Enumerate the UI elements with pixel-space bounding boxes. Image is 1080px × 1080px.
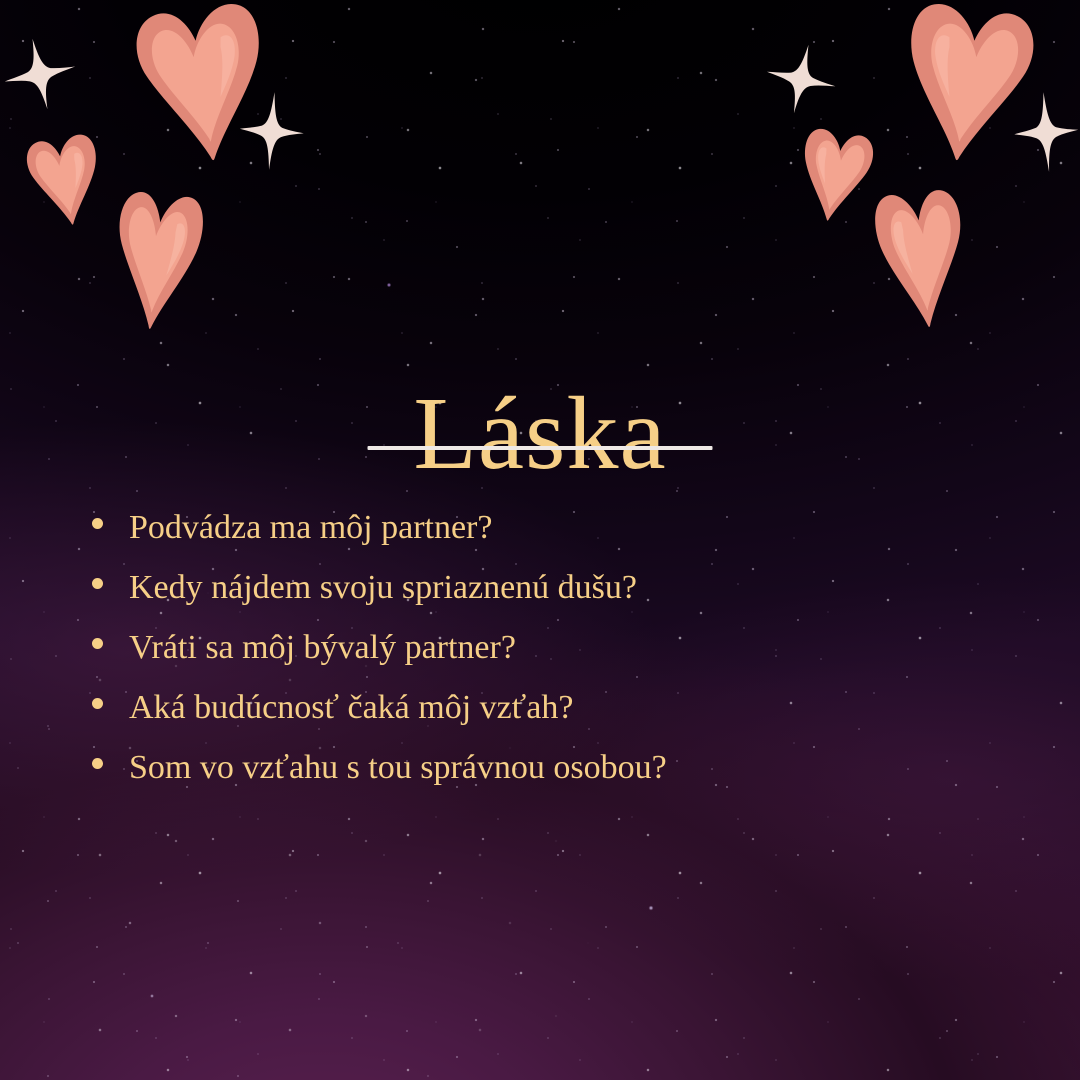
slide-content: Láska Podvádza ma môj partner? Kedy nájd… (0, 0, 1080, 1080)
list-item: Aká budúcnosť čaká môj vzťah? (92, 678, 992, 738)
list-item: Kedy nájdem svoju spriaznenú dušu? (92, 558, 992, 618)
list-item: Podvádza ma môj partner? (92, 498, 992, 558)
question-list: Podvádza ma môj partner? Kedy nájdem svo… (92, 498, 992, 798)
list-item: Vráti sa môj bývalý partner? (92, 618, 992, 678)
list-item: Som vo vzťahu s tou správnou osobou? (92, 738, 992, 798)
bullet-icon (92, 518, 103, 529)
question-text: Kedy nájdem svoju spriaznenú dušu? (129, 558, 637, 618)
tarot-love-slide: Láska Podvádza ma môj partner? Kedy nájd… (0, 0, 1080, 1080)
question-text: Podvádza ma môj partner? (129, 498, 492, 558)
title-divider (368, 446, 713, 450)
bullet-icon (92, 638, 103, 649)
question-text: Vráti sa môj bývalý partner? (129, 618, 516, 678)
question-text: Aká budúcnosť čaká môj vzťah? (129, 678, 573, 738)
bullet-icon (92, 698, 103, 709)
page-title: Láska (0, 382, 1080, 486)
bullet-icon (92, 758, 103, 769)
question-text: Som vo vzťahu s tou správnou osobou? (129, 738, 667, 798)
bullet-icon (92, 578, 103, 589)
